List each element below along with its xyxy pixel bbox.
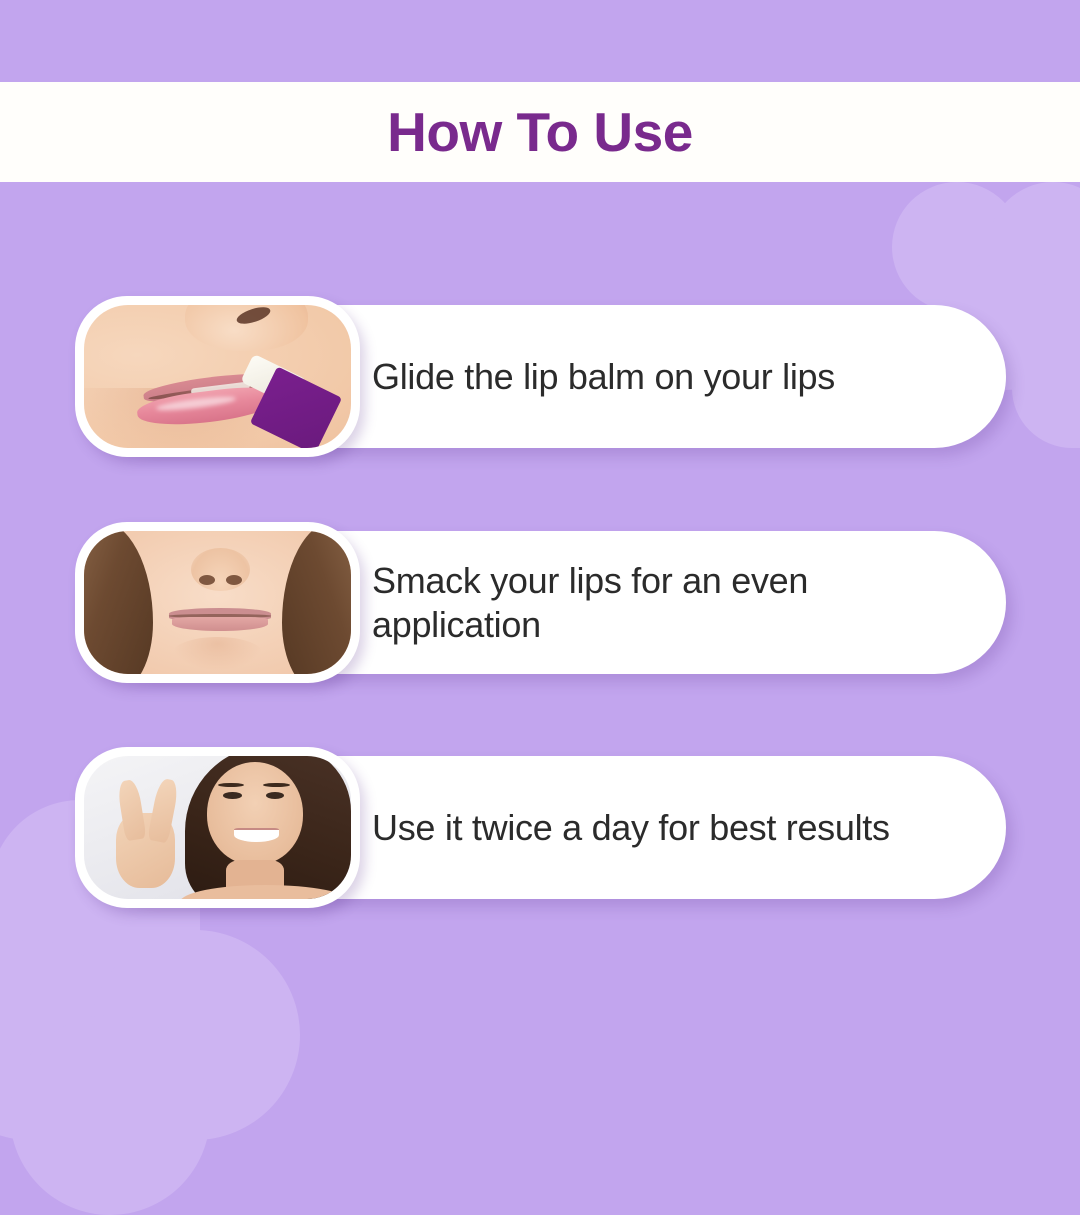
list-item[interactable]: Smack your lips for an even application: [78, 531, 1006, 674]
woman-smacking-lips-photo: [84, 531, 351, 674]
step-label: Glide the lip balm on your lips: [372, 355, 966, 398]
lips-with-lip-balm-photo: [84, 305, 351, 448]
step-thumbnail: [75, 296, 360, 457]
list-item[interactable]: Use it twice a day for best results: [78, 756, 1006, 899]
step-label: Smack your lips for an even application: [372, 559, 966, 645]
header-band: How To Use: [0, 82, 1080, 182]
woman-peace-sign-photo: [84, 756, 351, 899]
list-item[interactable]: Glide the lip balm on your lips: [78, 305, 1006, 448]
page-title: How To Use: [387, 105, 693, 160]
step-label: Use it twice a day for best results: [372, 806, 966, 849]
step-thumbnail: [75, 747, 360, 908]
step-thumbnail: [75, 522, 360, 683]
